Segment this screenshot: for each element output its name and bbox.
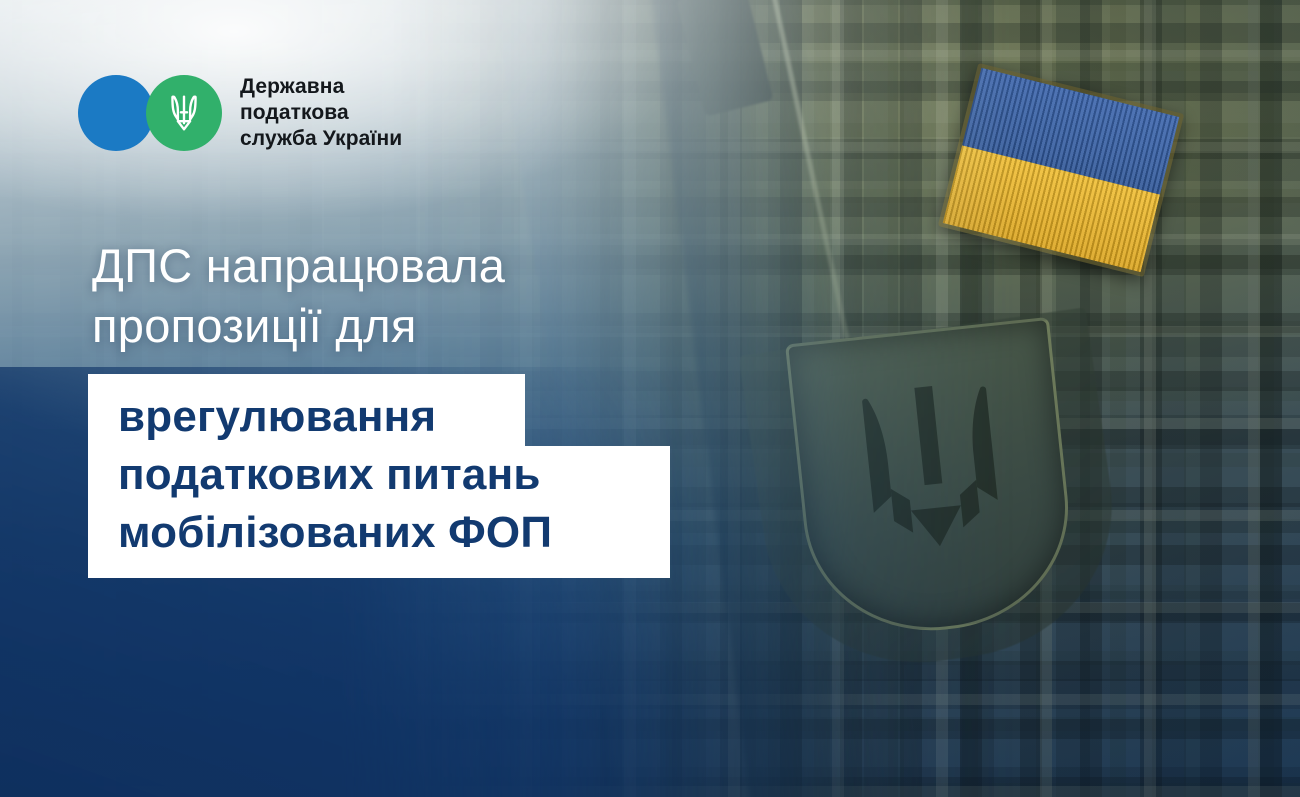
logo-line-1: Державна xyxy=(240,74,402,100)
headline-highlight-line-1: врегулювання xyxy=(88,374,525,446)
green-circle-icon xyxy=(146,75,222,151)
headline-highlight-text-1: врегулювання xyxy=(88,388,525,446)
headline-plain: ДПС напрацювала пропозиції для xyxy=(92,236,505,356)
banner-canvas: Державна податкова служба України ДПС на… xyxy=(0,0,1300,797)
headline-highlight-text-3: мобілізованих ФОП xyxy=(88,504,670,562)
logo-line-3: служба України xyxy=(240,126,402,152)
headline-plain-line-1: ДПС напрацювала xyxy=(92,236,505,296)
headline-highlight-line-3: мобілізованих ФОП xyxy=(88,504,670,578)
dps-logo: Державна податкова служба України xyxy=(78,74,402,152)
blue-circle-icon xyxy=(78,75,154,151)
logo-org-name: Державна податкова служба України xyxy=(240,74,402,152)
headline-highlight-line-2: податкових питань xyxy=(88,446,670,504)
tryzub-trident-icon xyxy=(167,91,201,135)
logo-marks xyxy=(78,75,222,151)
headline-highlight: врегулювання податкових питань мобілізов… xyxy=(88,374,670,578)
logo-line-2: податкова xyxy=(240,100,402,126)
headline-plain-line-2: пропозиції для xyxy=(92,296,505,356)
headline-highlight-text-2: податкових питань xyxy=(88,446,670,504)
